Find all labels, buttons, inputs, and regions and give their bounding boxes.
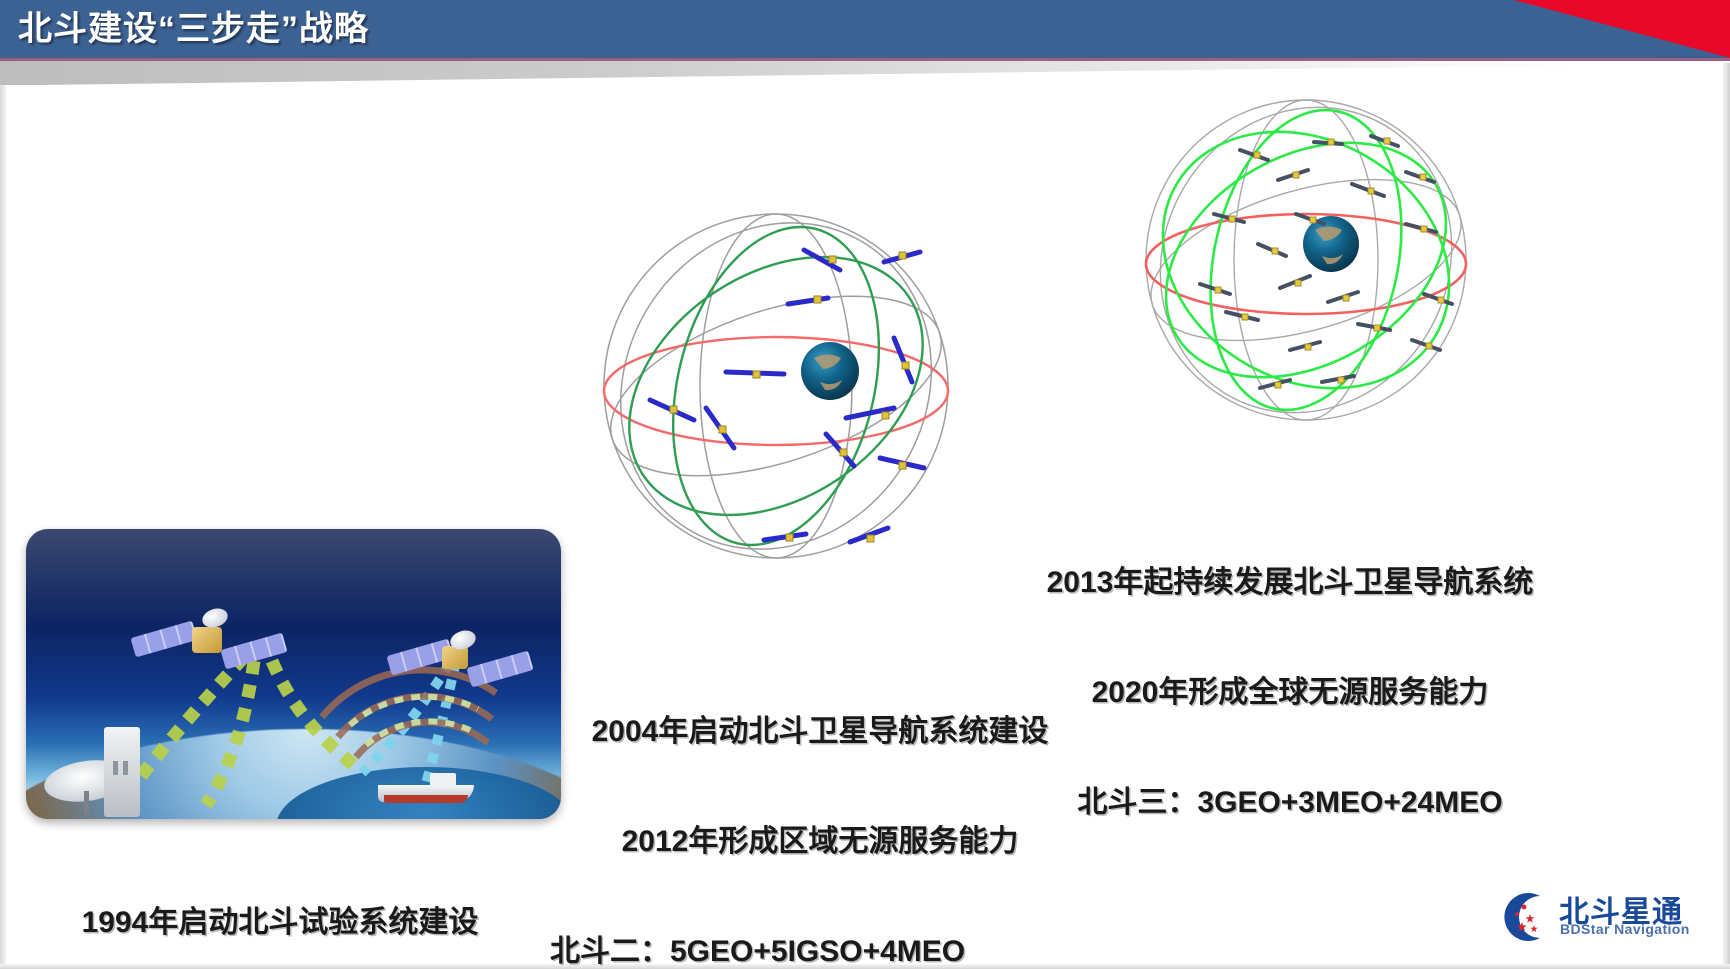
bd1-caption-line-1: 1994年启动北斗试验系统建设 xyxy=(0,905,560,942)
bd1-application-photo xyxy=(26,529,561,819)
bd2-globe-svg xyxy=(588,186,968,586)
bdstar-logo: 北斗星通 BDStar Navigation xyxy=(1497,887,1719,949)
photo-ground-station-building xyxy=(104,727,140,817)
photo-ship xyxy=(378,769,474,803)
slide-canvas: 北斗建设“三步走”战略 xyxy=(0,0,1730,969)
slide-left-edge xyxy=(0,0,6,969)
bd2-caption-line-3: 北斗二：5GEO+5IGSO+4MEO xyxy=(540,934,1100,969)
bd2-constellation-globe xyxy=(588,186,968,586)
bd1-caption: 1994年启动北斗试验系统建设 2000年形成区域有源服务能力 北斗一：2GEO xyxy=(0,832,560,969)
header-red-wedge-decoration xyxy=(1370,0,1730,58)
bd3-caption: 2013年起持续发展北斗卫星导航系统 2020年形成全球无源服务能力 北斗三：3… xyxy=(1000,492,1580,895)
header-shadow-band xyxy=(0,61,1730,87)
bdstar-crescent-icon xyxy=(1497,889,1553,945)
bd3-caption-line-1: 2013年起持续发展北斗卫星导航系统 xyxy=(1000,565,1580,602)
page-title: 北斗建设“三步走”战略 xyxy=(18,5,369,55)
bd3-globe-svg xyxy=(1118,88,1488,438)
slide-header: 北斗建设“三步走”战略 xyxy=(0,0,1730,58)
slide-right-edge xyxy=(1723,0,1730,969)
bdstar-logo-en: BDStar Navigation xyxy=(1560,921,1690,937)
bd3-caption-line-3: 北斗三：3GEO+3MEO+24MEO xyxy=(1000,785,1580,822)
bd3-caption-line-2: 2020年形成全球无源服务能力 xyxy=(1000,675,1580,712)
bd3-constellation-globe xyxy=(1118,88,1488,438)
bd2-satellites xyxy=(650,250,924,542)
photo-gloss-overlay xyxy=(26,529,561,625)
